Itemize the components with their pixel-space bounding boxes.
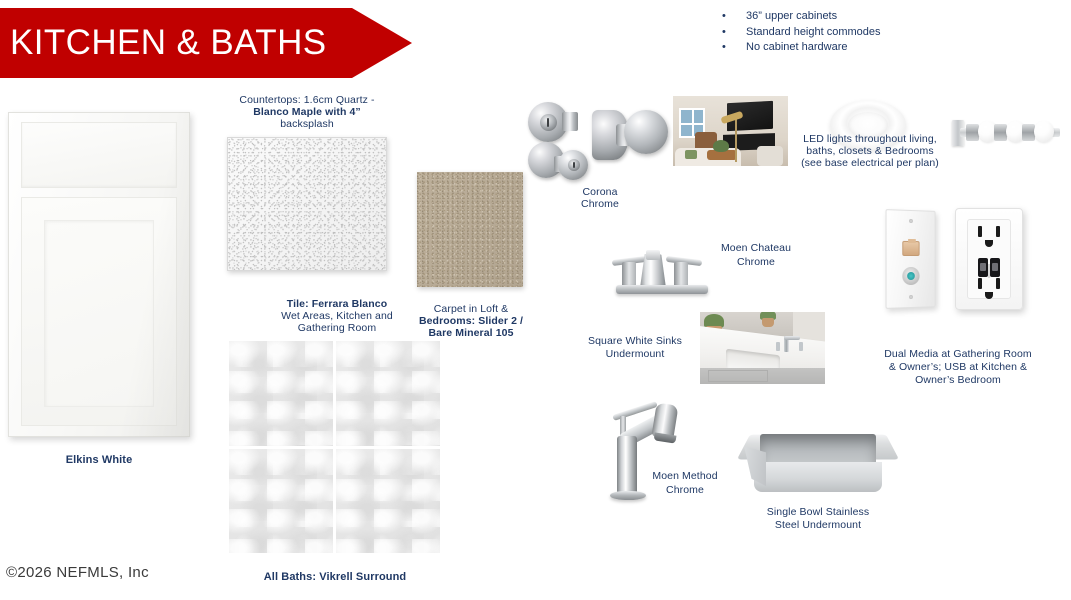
tile-cell: [229, 449, 333, 554]
receptacle-slot: [978, 278, 982, 289]
carpet-caption-line2: Bedrooms: Slider 2 /: [414, 315, 528, 328]
photo-armchair: [757, 146, 783, 166]
photo-faucet-handle: [776, 342, 780, 351]
door-knob-icon: [592, 100, 668, 176]
photo-pillow: [685, 150, 697, 159]
light-bulb: [1034, 121, 1054, 142]
cabinet-door-icon: [8, 112, 190, 437]
usb-outlet-icon: [955, 208, 1023, 310]
tile-caption-line2: Wet Areas, Kitchen and: [258, 310, 416, 323]
receptacle-ground: [985, 240, 993, 247]
deadbolt-shank: [562, 112, 578, 131]
outlet-body: [967, 219, 1011, 299]
cabinet-caption: Elkins White: [8, 454, 190, 467]
plate-screw: [909, 219, 913, 223]
electrical-caption-line3: Owner’s Bedroom: [878, 374, 1038, 387]
carpet-caption-line3: Bare Mineral 105: [414, 327, 528, 340]
coax-jack-icon: [902, 267, 919, 285]
sink-front-panel: [754, 462, 882, 492]
sink-side-panel: [744, 446, 766, 486]
knob-keyhole: [568, 159, 580, 171]
note-label: Standard height commodes: [746, 27, 881, 38]
kitchen-faucet-caption-line1: Moen Method: [630, 470, 740, 483]
bath-vanity-photo: [700, 312, 825, 384]
tile-cell: [229, 341, 333, 446]
usb-port: [990, 258, 1000, 277]
stainless-sink-icon: [744, 416, 892, 502]
photo-cabinet-panel: [708, 370, 768, 382]
window-mullion: [681, 123, 703, 125]
bullet-icon: •: [722, 11, 746, 22]
carpet-caption-line1: Carpet in Loft &: [418, 303, 524, 316]
photo-floor-lamp: [735, 118, 737, 162]
tile-cell: [336, 341, 440, 446]
photo-faucet-handle: [799, 342, 803, 351]
tile-caption-line1: Tile: Ferrara Blanco: [258, 298, 416, 311]
cabinet-drawer-front: [21, 122, 177, 188]
receptacle-slot: [978, 226, 982, 237]
tile-caption-line3: Gathering Room: [258, 322, 416, 335]
sinks-caption-line2: Undermount: [580, 348, 690, 361]
door-knob-icon: [528, 96, 584, 148]
spec-notes-list: • 36” upper cabinets • Standard height c…: [722, 11, 881, 58]
note-label: 36” upper cabinets: [746, 11, 837, 22]
cabinet-door-panel: [21, 197, 177, 426]
lav-faucet-caption-line2: Chrome: [710, 256, 802, 269]
media-wall-plate-icon: [886, 209, 936, 309]
list-item: • 36” upper cabinets: [722, 11, 881, 22]
faucet-cap: [646, 250, 660, 260]
outlet-divider: [988, 264, 990, 278]
countertop-caption-line3: backsplash: [222, 118, 392, 131]
carpet-swatch: [417, 172, 523, 287]
electrical-caption-line1: Dual Media at Gathering Room: [878, 348, 1038, 361]
receptacle-bottom: [973, 278, 1005, 304]
list-item: • No cabinet hardware: [722, 42, 881, 53]
list-item: • Standard height commodes: [722, 27, 881, 38]
kitchen-sink-caption-line2: Steel Undermount: [748, 519, 888, 532]
living-room-photo: [673, 96, 788, 166]
lav-faucet-caption-line1: Moen Chateau: [710, 242, 802, 255]
door-knob-icon: [528, 142, 590, 192]
countertop-caption-line2: Blanco Maple with 4”: [222, 106, 392, 119]
note-label: No cabinet hardware: [746, 42, 848, 53]
tile-grid-swatch: [229, 341, 440, 553]
selections-board: KITCHEN & BATHS • 36” upper cabinets • S…: [0, 0, 1071, 600]
key-slot: [547, 118, 549, 127]
key-slot: [573, 162, 575, 168]
vikrell-caption: All Baths: Vikrell Surround: [235, 571, 435, 584]
tile-cell: [336, 449, 440, 554]
quartz-slab-swatch: [227, 137, 387, 271]
cabinet-inner-panel: [44, 220, 154, 407]
receptacle-top: [973, 226, 1005, 252]
ethernet-jack-icon: [902, 241, 919, 256]
section-banner: KITCHEN & BATHS: [0, 8, 412, 78]
doorknob-caption-line1: Corona: [560, 186, 640, 199]
plate-screw: [909, 295, 913, 299]
kitchen-faucet-caption-line2: Chrome: [630, 484, 740, 497]
led-caption-line1: LED lights throughout living,: [800, 133, 940, 146]
electrical-caption-line2: & Owner’s; USB at Kitchen &: [878, 361, 1038, 374]
photo-faucet-spout: [784, 336, 800, 340]
bullet-icon: •: [722, 27, 746, 38]
vanity-bar-light-icon: [952, 112, 1064, 152]
led-caption-line3: (see base electrical per plan): [800, 157, 940, 170]
doorknob-caption-line2: Chrome: [560, 198, 640, 211]
knob-ball: [624, 110, 668, 154]
sinks-caption-line1: Square White Sinks: [580, 335, 690, 348]
led-caption-line2: baths, closets & Bedrooms: [800, 145, 940, 158]
coax-core: [907, 272, 915, 280]
lavatory-faucet-icon: [606, 238, 716, 294]
usb-port: [978, 258, 988, 277]
copyright-notice: ©2026 NEFMLS, Inc: [6, 564, 149, 581]
photo-vanity-cabinet: [700, 368, 825, 384]
bullet-icon: •: [722, 42, 746, 53]
photo-plant: [713, 140, 729, 152]
deadbolt-keyhole: [540, 114, 557, 131]
receptacle-slot: [996, 226, 1000, 237]
faucet-escutcheon: [616, 285, 708, 294]
photo-planter: [762, 318, 774, 327]
receptacle-ground: [985, 292, 993, 299]
receptacle-slot: [996, 278, 1000, 289]
countertop-caption-line1: Countertops: 1.6cm Quartz -: [222, 94, 392, 107]
banner-title: KITCHEN & BATHS: [0, 23, 327, 63]
kitchen-sink-caption-line1: Single Bowl Stainless: [748, 506, 888, 519]
jack-tab: [908, 239, 916, 243]
